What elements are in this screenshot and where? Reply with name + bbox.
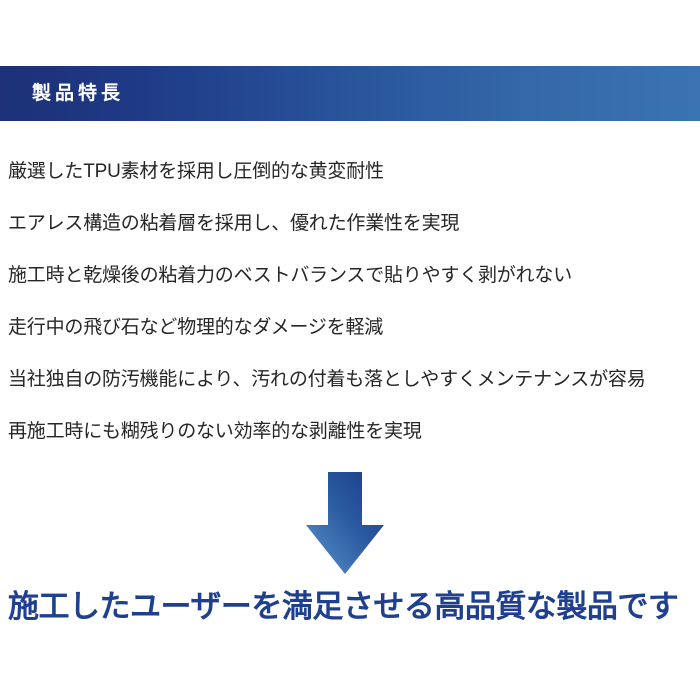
feature-item: 当社独自の防汚機能により、汚れの付着も落としやすくメンテナンスが容易 [0,353,700,405]
conclusion-banner: 施工したユーザーを満足させる高品質な製品です [0,583,700,629]
feature-item: 厳選したTPU素材を採用し圧倒的な黄変耐性 [0,145,700,197]
arrow-down-icon [304,470,386,577]
feature-list: 厳選したTPU素材を採用し圧倒的な黄変耐性 エアレス構造の粘着層を採用し、優れた… [0,145,700,457]
feature-item: 施工時と乾燥後の粘着力のベストバランスで貼りやすく剥がれない [0,249,700,301]
feature-item: 走行中の飛び石など物理的なダメージを軽減 [0,301,700,353]
section-title: 製品特長 [32,84,124,103]
feature-item: エアレス構造の粘着層を採用し、優れた作業性を実現 [0,197,700,249]
section-banner: 製品特長 [0,66,700,121]
conclusion-text: 施工したユーザーを満足させる高品質な製品です [8,591,678,622]
product-features-page: 製品特長 厳選したTPU素材を採用し圧倒的な黄変耐性 エアレス構造の粘着層を採用… [0,0,700,700]
feature-item: 再施工時にも糊残りのない効率的な剥離性を実現 [0,405,700,457]
